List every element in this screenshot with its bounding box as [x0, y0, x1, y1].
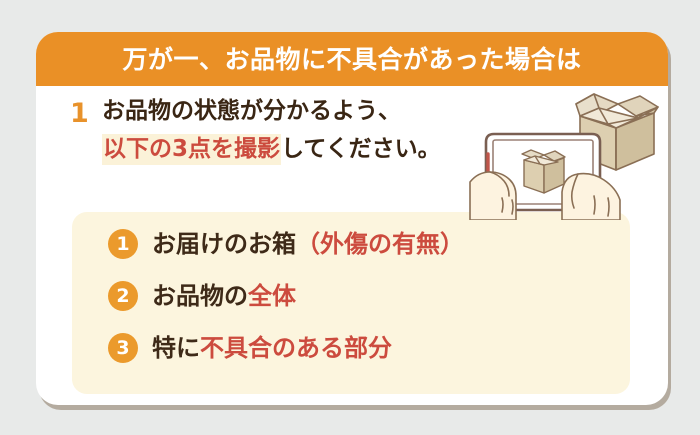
list-badge-1: 1 [108, 229, 138, 259]
list-item-label-1: お届けのお箱 [152, 230, 296, 258]
list-item-text-2: お品物の全体 [152, 284, 296, 308]
photo-checklist-box: 1 お届けのお箱（外傷の有無） 2 お品物の全体 3 特に不具合のある部分 [72, 212, 630, 394]
tablet-photo-illustration [468, 80, 668, 220]
step-highlight-text: 以下の3点を撮影 [102, 134, 281, 165]
step-instruction-line-2: 以下の3点を撮影してください。 [102, 138, 441, 161]
list-item-label-3: 特に [152, 334, 200, 362]
list-item-label-2: お品物の [152, 282, 248, 310]
list-item-accent-3: 不具合のある部分 [200, 334, 392, 362]
right-hand-icon [562, 174, 620, 220]
list-item: 1 お届けのお箱（外傷の有無） [108, 226, 464, 262]
info-card: 万が一、お品物に不具合があった場合は 1 お品物の状態が分かるよう、 以下の3点… [36, 32, 668, 405]
step-instruction-line-1: お品物の状態が分かるよう、 [102, 100, 401, 123]
left-hand-icon [470, 172, 516, 220]
list-item-accent-1: （外傷の有無） [296, 230, 464, 258]
step-number: 1 [70, 100, 89, 127]
list-item-text-1: お届けのお箱（外傷の有無） [152, 232, 464, 256]
list-badge-3: 3 [108, 333, 138, 363]
list-item: 3 特に不具合のある部分 [108, 330, 392, 366]
list-item-accent-2: 全体 [248, 282, 296, 310]
list-item: 2 お品物の全体 [108, 278, 296, 314]
step-instruction-tail: してください。 [281, 136, 441, 162]
list-item-text-3: 特に不具合のある部分 [152, 336, 392, 360]
card-header: 万が一、お品物に不具合があった場合は [36, 32, 668, 86]
list-badge-2: 2 [108, 281, 138, 311]
header-title: 万が一、お品物に不具合があった場合は [122, 47, 581, 72]
